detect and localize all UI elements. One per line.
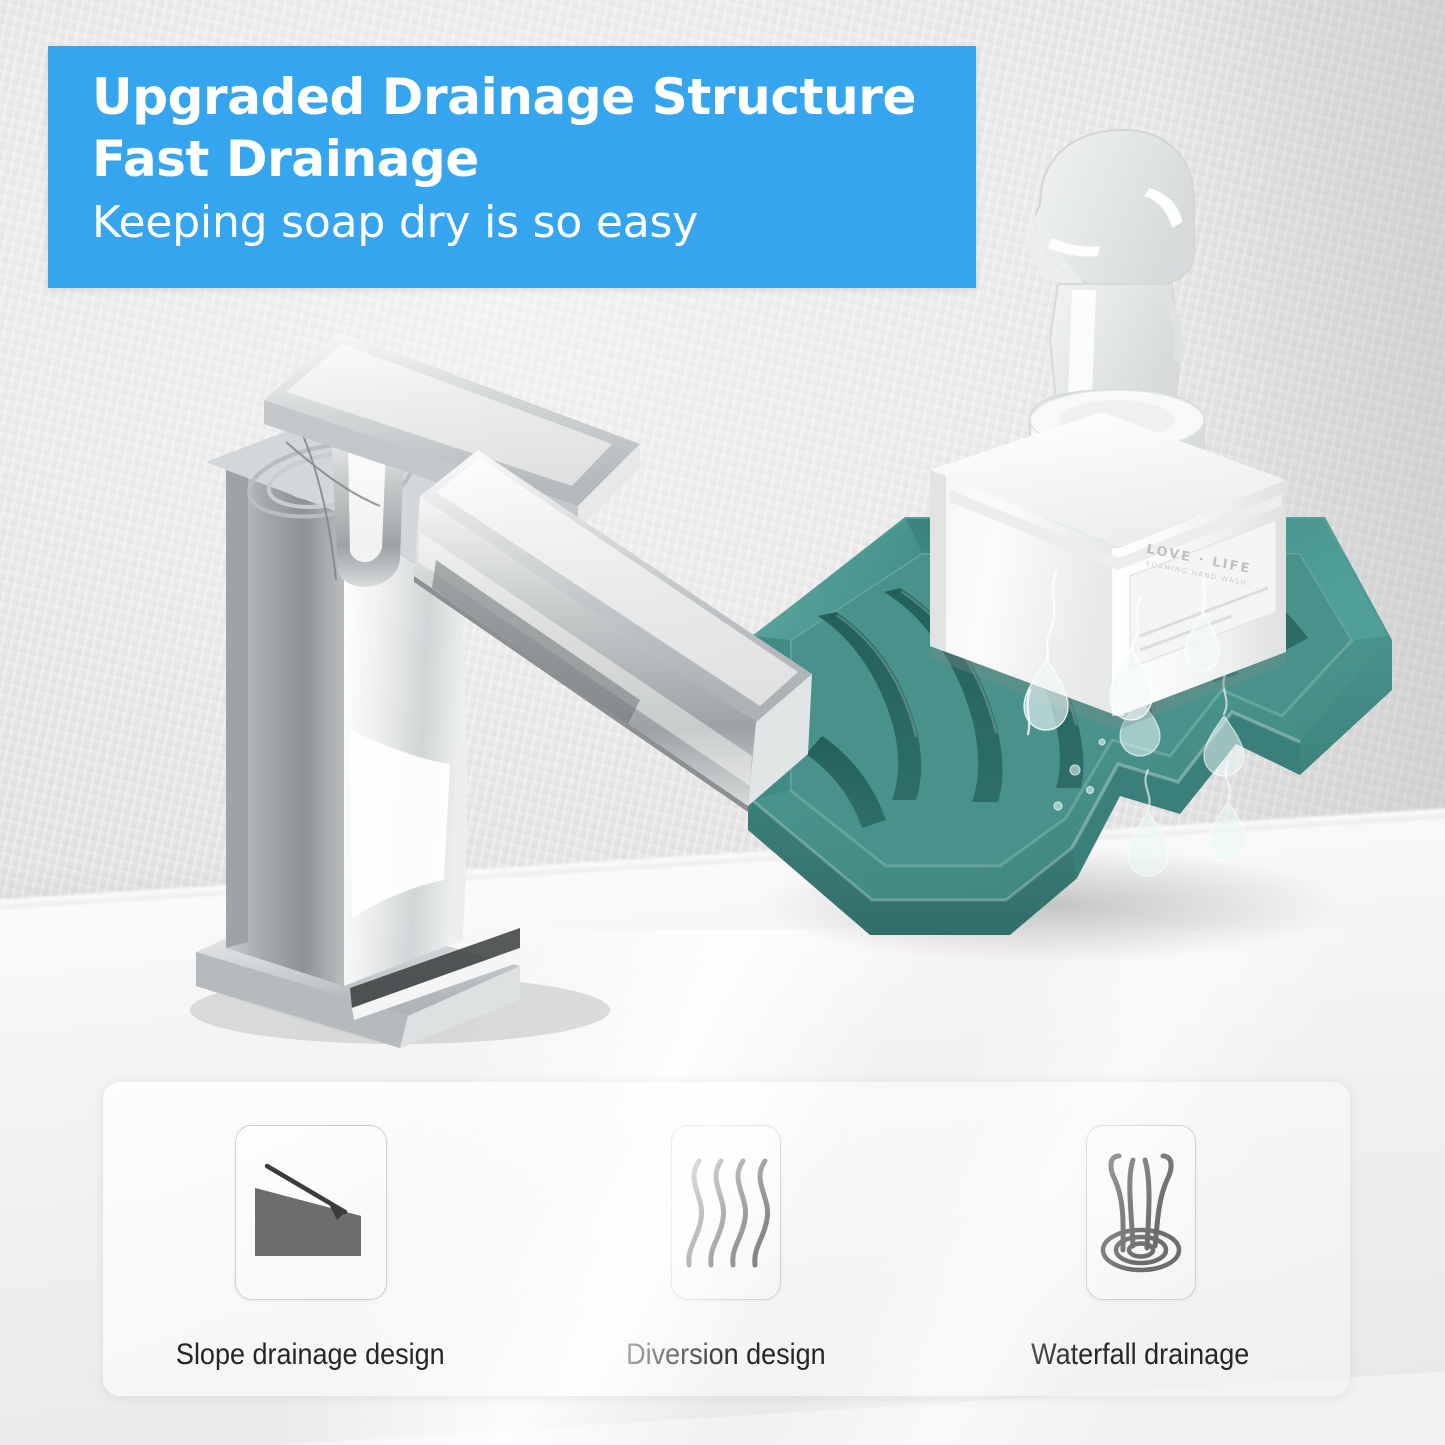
headline-line-1: Upgraded Drainage Structure [92,66,976,128]
feature-panel: Slope drainage design Diversion design [103,1082,1350,1396]
waterfall-ripple-icon [1093,1146,1189,1280]
feature-label-diversion: Diversion design [626,1338,826,1372]
icon-box-slope [235,1125,387,1300]
feature-diversion-design: Diversion design [518,1082,933,1372]
feature-waterfall-drainage: Waterfall drainage [933,1082,1348,1372]
icon-box-waterfall [1086,1125,1196,1300]
sub-headline: Keeping soap dry is so easy [92,196,976,250]
feature-slope-drainage: Slope drainage design [103,1082,518,1372]
headline-banner: Upgraded Drainage Structure Fast Drainag… [48,46,976,288]
icon-box-diversion [671,1125,781,1300]
slope-wedge-arrow-icon [245,1138,377,1288]
wavy-lines-icon [681,1147,771,1279]
feature-label-slope: Slope drainage design [176,1338,445,1372]
product-marketing-image: LOVE · LIFE FOAMING HAND WASH Upgraded D… [0,0,1445,1445]
feature-label-waterfall: Waterfall drainage [1031,1338,1249,1372]
headline-line-2: Fast Drainage [92,128,976,190]
